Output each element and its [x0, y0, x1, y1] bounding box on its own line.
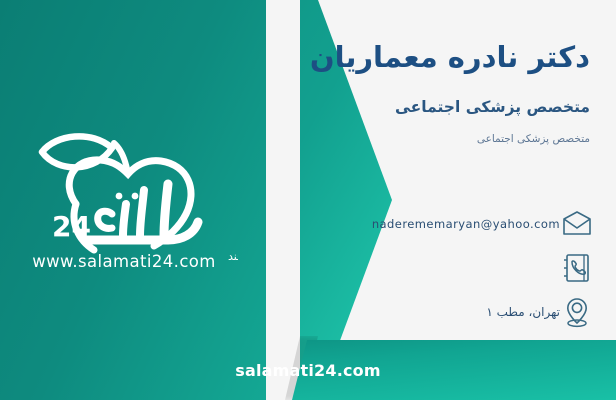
contact-list: naderememaryan@yahoo.com: [354, 205, 594, 337]
business-card: 24 به راحتی یک لبخند www.salamati24.com …: [0, 0, 616, 400]
doctor-name: دکتر نادره معماریان: [310, 40, 590, 74]
location-pin-icon: [560, 295, 594, 329]
logo-badge-24: 24: [52, 210, 91, 243]
contact-row-phone[interactable]: [354, 249, 594, 287]
logo-tagline: به راحتی یک لبخند: [228, 250, 238, 263]
phone-book-icon: [560, 251, 594, 285]
doctor-specialty-secondary: متخصص پزشکی اجتماعی: [477, 133, 590, 145]
doctor-specialty-primary: متخصص پزشکی اجتماعی: [395, 98, 590, 116]
contact-row-email[interactable]: naderememaryan@yahoo.com: [354, 205, 594, 243]
clinic-address: تهران، مطب ۱: [477, 305, 560, 319]
footer-website[interactable]: salamati24.com: [0, 340, 616, 400]
email-address: naderememaryan@yahoo.com: [363, 217, 560, 231]
envelope-icon: [560, 207, 594, 241]
contact-row-address[interactable]: تهران، مطب ۱: [354, 293, 594, 331]
logo-website: www.salamati24.com: [24, 252, 224, 271]
